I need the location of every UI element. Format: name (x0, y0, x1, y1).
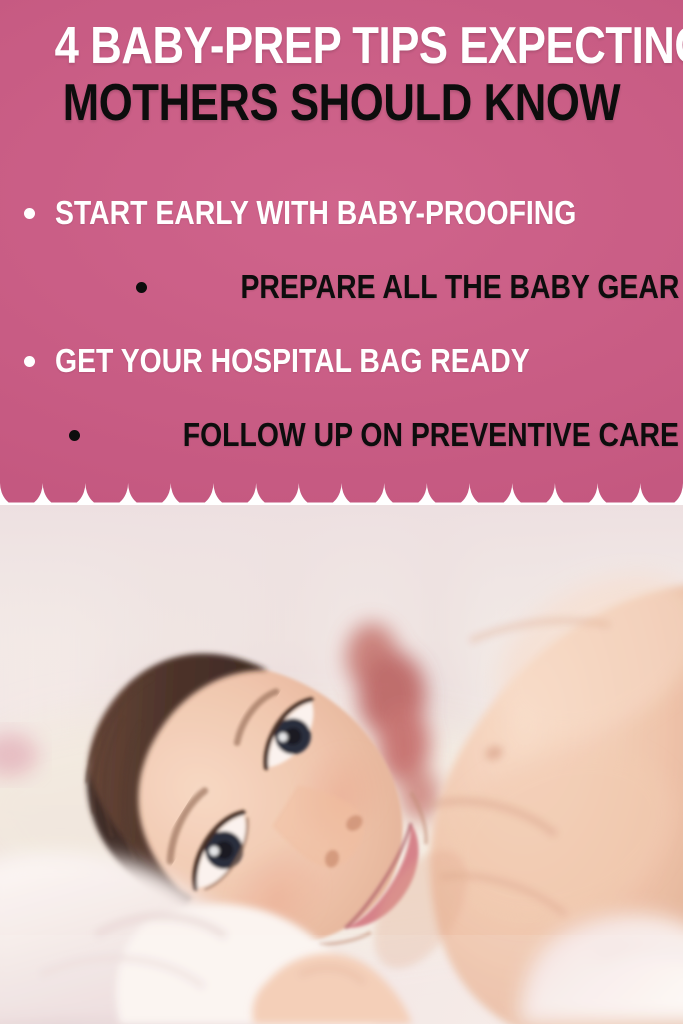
bullet-dot-icon (136, 282, 147, 293)
list-item-label: FOLLOW UP ON PREVENTIVE CARE (183, 418, 679, 452)
baby-photo-illustration (0, 505, 683, 1024)
scalloped-divider (0, 479, 683, 505)
tips-list: START EARLY WITH BABY-PROOFING PREPARE A… (0, 176, 683, 472)
list-item: GET YOUR HOSPITAL BAG READY (0, 324, 683, 398)
list-item-label: GET YOUR HOSPITAL BAG READY (55, 344, 530, 378)
list-item: PREPARE ALL THE BABY GEAR (0, 250, 683, 324)
baby-photo (0, 505, 683, 1024)
title-line-1: 4 BABY-PREP TIPS EXPECTING (55, 18, 629, 75)
header-panel: 4 BABY-PREP TIPS EXPECTING MOTHERS SHOUL… (0, 0, 683, 505)
list-item: START EARLY WITH BABY-PROOFING (0, 176, 683, 250)
list-item-label: START EARLY WITH BABY-PROOFING (55, 196, 576, 230)
bullet-dot-icon (69, 430, 80, 441)
title-line-2: MOTHERS SHOULD KNOW (55, 75, 629, 132)
bullet-dot-icon (24, 208, 35, 219)
page-title: 4 BABY-PREP TIPS EXPECTING MOTHERS SHOUL… (0, 18, 683, 132)
list-item-label: PREPARE ALL THE BABY GEAR (240, 270, 679, 304)
bullet-dot-icon (24, 356, 35, 367)
list-item: FOLLOW UP ON PREVENTIVE CARE (0, 398, 683, 472)
pinterest-pin-graphic: 4 BABY-PREP TIPS EXPECTING MOTHERS SHOUL… (0, 0, 683, 1024)
